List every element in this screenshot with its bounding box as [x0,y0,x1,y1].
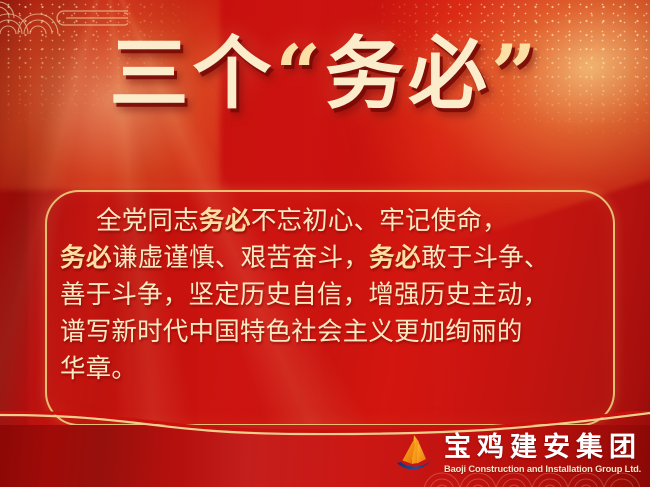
baoji-sail-logo-icon [392,432,436,476]
logo-text-block: 宝鸡建安集团 Baoji Construction and Installati… [444,434,642,474]
company-name-cn: 宝鸡建安集团 [444,434,642,462]
quote-card-frame [45,190,615,426]
company-logo: 宝鸡建安集团 Baoji Construction and Installati… [392,427,642,481]
company-name-en: Baoji Construction and Installation Grou… [444,464,642,474]
poster-canvas: 三个“务必” 全党同志务必不忘初心、牢记使命，务必谦虚谨慎、艰苦奋斗，务必敢于斗… [0,0,650,487]
